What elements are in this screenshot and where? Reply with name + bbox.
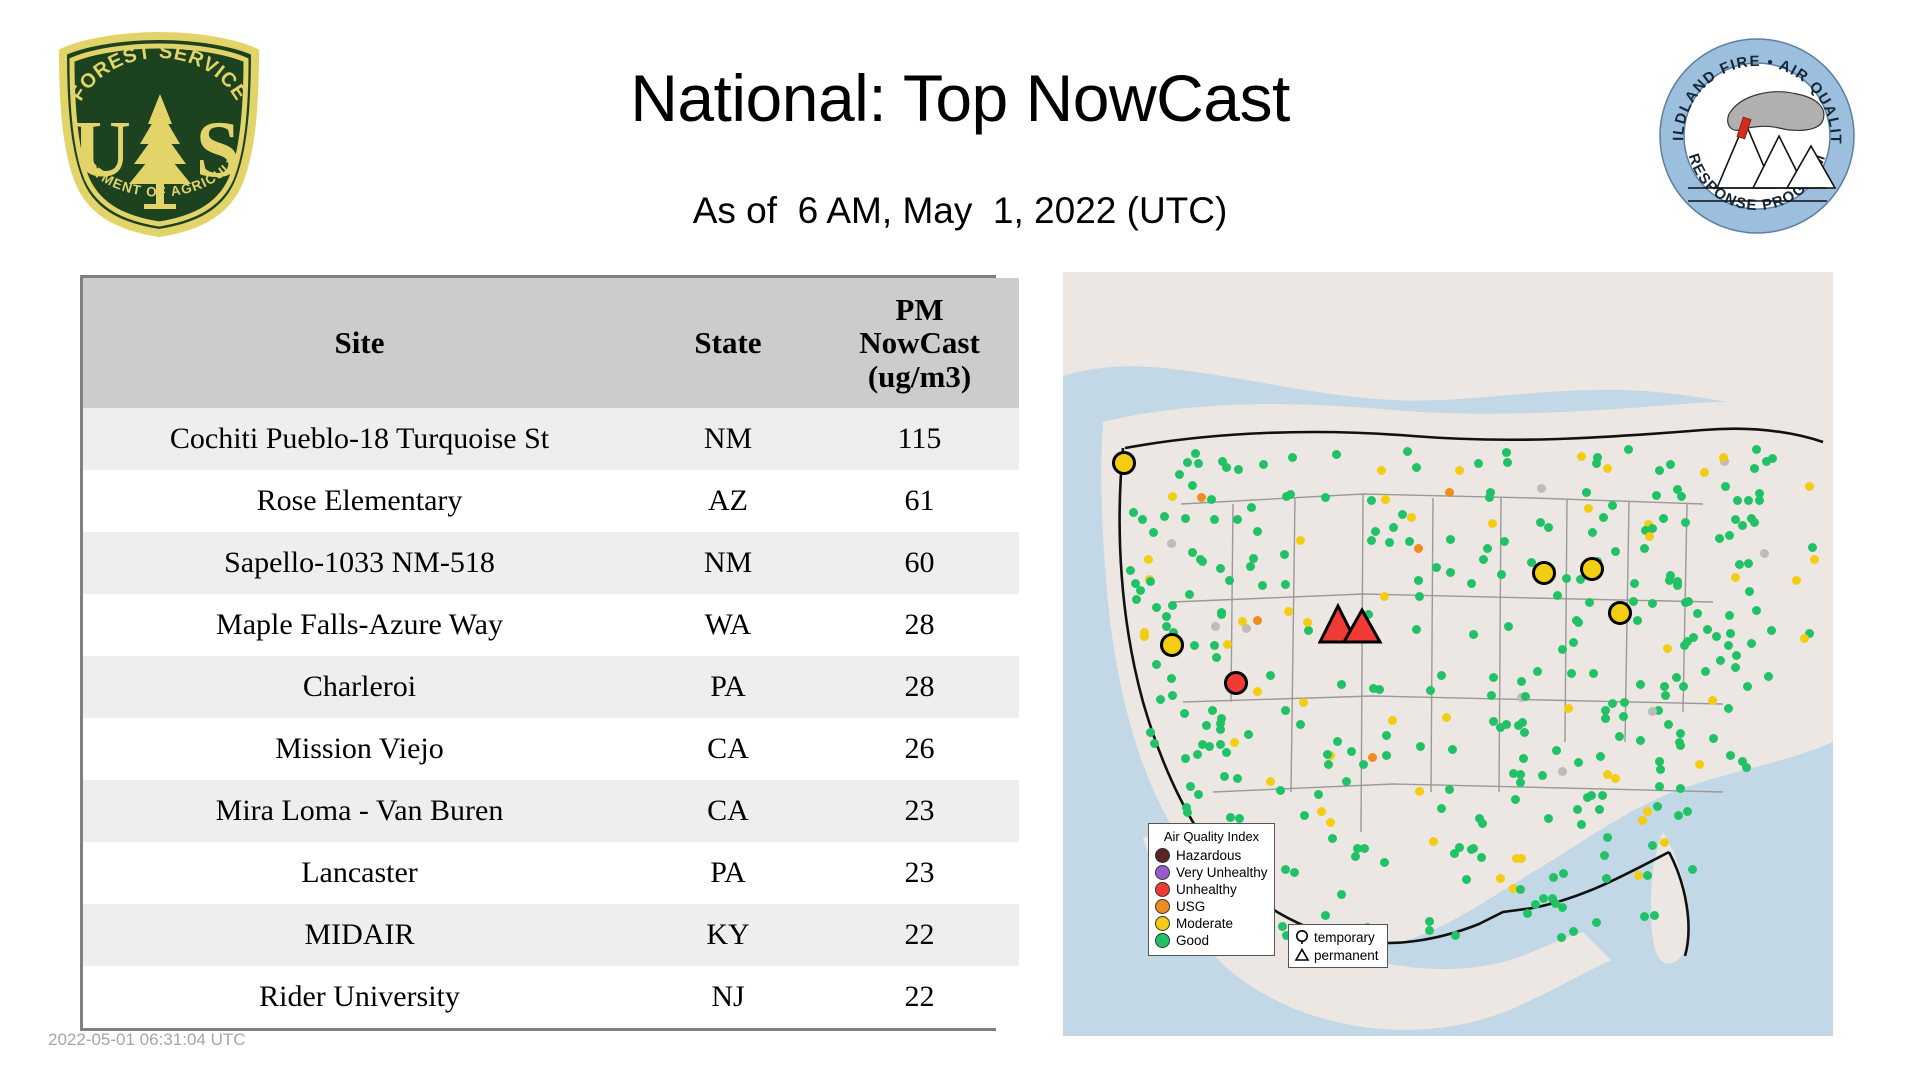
- aqi-monitor-dot[interactable]: [1805, 482, 1814, 491]
- aqi-monitor-dot[interactable]: [1693, 609, 1702, 618]
- symbol-legend-row-temporary: temporary: [1294, 928, 1382, 946]
- aqi-monitor-dot[interactable]: [1477, 853, 1486, 862]
- aqi-monitor-dot[interactable]: [1367, 496, 1376, 505]
- aqi-monitor-dot[interactable]: [1210, 641, 1219, 650]
- aqi-monitor-dot[interactable]: [1633, 616, 1642, 625]
- usfs-letter-u: U: [73, 106, 131, 194]
- aqi-monitor-dot[interactable]: [1359, 760, 1368, 769]
- aqi-monitor-dot[interactable]: [1469, 844, 1478, 853]
- aqi-monitor-dot[interactable]: [1489, 673, 1498, 682]
- aqi-monitor-dot[interactable]: [1412, 463, 1421, 472]
- aqi-monitor-dot[interactable]: [1574, 618, 1583, 627]
- aqi-monitor-dot[interactable]: [1212, 653, 1221, 662]
- aqi-monitor-dot[interactable]: [1282, 492, 1291, 501]
- aqi-monitor-dot[interactable]: [1502, 720, 1511, 729]
- generation-timestamp: 2022-05-01 06:31:04 UTC: [48, 1030, 246, 1050]
- aqi-monitor-dot[interactable]: [1681, 518, 1690, 527]
- aqi-monitor-dot[interactable]: [1725, 611, 1734, 620]
- aqi-monitor-dot[interactable]: [1655, 757, 1664, 766]
- aqi-monitor-dot[interactable]: [1603, 833, 1612, 842]
- aqi-monitor-dot[interactable]: [1415, 592, 1424, 601]
- aqi-monitor-dot[interactable]: [1599, 513, 1608, 522]
- pm-header-line2: NowCast: [824, 326, 1015, 359]
- table-header-row: Site State PM NowCast (ug/m3): [83, 278, 1019, 408]
- site-cell: Sapello-1033 NM-518: [83, 532, 636, 594]
- aqi-legend-label: USG: [1176, 899, 1205, 914]
- aqi-monitor-dot[interactable]: [1731, 663, 1740, 672]
- pm-value-cell: 26: [820, 718, 1019, 780]
- aqi-monitor-dot[interactable]: [1483, 544, 1492, 553]
- aqi-legend-row: Hazardous: [1155, 847, 1268, 864]
- aqi-monitor-dot[interactable]: [1416, 742, 1425, 751]
- symbol-legend-row-permanent: permanent: [1294, 946, 1382, 964]
- aqi-monitor-dot[interactable]: [1800, 634, 1809, 643]
- aqi-monitor-dot[interactable]: [1516, 885, 1525, 894]
- aqi-monitor-dot[interactable]: [1552, 746, 1561, 755]
- aqi-monitor-dot[interactable]: [1281, 580, 1290, 589]
- aqi-monitor-dot[interactable]: [1708, 696, 1717, 705]
- aqi-monitor-dot[interactable]: [1630, 579, 1639, 588]
- site-cell: MIDAIR: [83, 904, 636, 966]
- aqi-monitor-dot[interactable]: [1385, 538, 1394, 547]
- aqi-monitor-dot[interactable]: [1332, 450, 1341, 459]
- pm-value-cell: 23: [820, 780, 1019, 842]
- aqi-monitor-dot[interactable]: [1695, 760, 1704, 769]
- usfs-letter-s: S: [196, 106, 241, 194]
- site-cell: Charleroi: [83, 656, 636, 718]
- aqi-monitor-dot[interactable]: [1721, 482, 1730, 491]
- top-site-marker[interactable]: [1580, 557, 1604, 581]
- aqi-monitor-dot[interactable]: [1156, 695, 1165, 704]
- site-cell: Maple Falls-Azure Way: [83, 594, 636, 656]
- aqi-legend-label: Good: [1176, 933, 1209, 948]
- state-cell: CA: [636, 718, 820, 780]
- aqi-legend-swatch: [1155, 899, 1170, 914]
- aqi-monitor-dot[interactable]: [1537, 484, 1546, 493]
- state-cell: KY: [636, 904, 820, 966]
- pm-value-cell: 115: [820, 408, 1019, 470]
- aqi-monitor-dot[interactable]: [1583, 793, 1592, 802]
- aqi-monitor-dot[interactable]: [1487, 691, 1496, 700]
- aqi-monitor-dot[interactable]: [1288, 453, 1297, 462]
- aqi-monitor-dot[interactable]: [1303, 618, 1312, 627]
- aqi-monitor-dot[interactable]: [1725, 531, 1734, 540]
- symbol-legend: temporary permanent: [1288, 924, 1388, 968]
- aqi-monitor-dot[interactable]: [1185, 590, 1194, 599]
- aqi-monitor-dot[interactable]: [1167, 674, 1176, 683]
- site-cell: Rose Elementary: [83, 470, 636, 532]
- aqi-monitor-dot[interactable]: [1497, 570, 1506, 579]
- aqi-monitor-dot[interactable]: [1533, 667, 1542, 676]
- aqi-monitor-dot[interactable]: [1750, 464, 1759, 473]
- aqi-monitor-dot[interactable]: [1709, 734, 1718, 743]
- aqi-monitor-dot[interactable]: [1246, 562, 1255, 571]
- aqi-monitor-dot[interactable]: [1281, 865, 1290, 874]
- aqi-monitor-dot[interactable]: [1407, 513, 1416, 522]
- aqi-monitor-dot[interactable]: [1149, 528, 1158, 537]
- aqi-monitor-dot[interactable]: [1191, 449, 1200, 458]
- aqi-monitor-dot[interactable]: [1735, 560, 1744, 569]
- aqi-monitor-dot[interactable]: [1636, 736, 1645, 745]
- aqi-monitor-dot[interactable]: [1146, 577, 1155, 586]
- aqi-monitor-dot[interactable]: [1238, 617, 1247, 626]
- aqi-monitor-dot[interactable]: [1747, 639, 1756, 648]
- aqi-monitor-dot[interactable]: [1620, 698, 1629, 707]
- aqi-monitor-dot[interactable]: [1425, 926, 1434, 935]
- aqi-monitor-dot[interactable]: [1744, 496, 1753, 505]
- page-title: National: Top NowCast: [360, 60, 1560, 136]
- aqi-monitor-dot[interactable]: [1577, 820, 1586, 829]
- aqi-monitor-dot[interactable]: [1611, 774, 1620, 783]
- aqi-monitor-dot[interactable]: [1559, 869, 1568, 878]
- aqi-legend: Air Quality Index HazardousVery Unhealth…: [1148, 823, 1275, 956]
- aqi-legend-swatch: [1155, 865, 1170, 880]
- aqi-monitor-dot[interactable]: [1351, 852, 1360, 861]
- top-nowcast-table: Site State PM NowCast (ug/m3) Cochiti Pu…: [83, 278, 1019, 1028]
- aqi-monitor-dot[interactable]: [1259, 460, 1268, 469]
- aqi-monitor-dot[interactable]: [1266, 777, 1275, 786]
- top-site-marker[interactable]: [1112, 451, 1136, 475]
- aqi-monitor-dot[interactable]: [1280, 550, 1289, 559]
- aqi-monitor-dot[interactable]: [1624, 445, 1633, 454]
- top-nowcast-table-container: Site State PM NowCast (ug/m3) Cochiti Pu…: [80, 275, 996, 1031]
- aqi-monitor-dot[interactable]: [1745, 587, 1754, 596]
- aqi-monitor-dot[interactable]: [1445, 785, 1454, 794]
- aqi-monitor-dot[interactable]: [1321, 911, 1330, 920]
- aqi-monitor-dot[interactable]: [1347, 747, 1356, 756]
- aqi-monitor-dot[interactable]: [1446, 535, 1455, 544]
- aqi-monitor-dot[interactable]: [1167, 539, 1176, 548]
- aqi-monitor-dot[interactable]: [1747, 514, 1756, 523]
- aqi-monitor-dot[interactable]: [1719, 453, 1728, 462]
- column-header-pm-nowcast[interactable]: PM NowCast (ug/m3): [820, 278, 1019, 408]
- aqi-monitor-dot[interactable]: [1168, 601, 1177, 610]
- column-header-site[interactable]: Site: [83, 278, 636, 408]
- pm-value-cell: 60: [820, 532, 1019, 594]
- aqi-monitor-dot[interactable]: [1138, 515, 1147, 524]
- aqi-monitor-dot[interactable]: [1258, 581, 1267, 590]
- aqi-monitor-dot[interactable]: [1558, 767, 1567, 776]
- aqi-monitor-dot[interactable]: [1405, 537, 1414, 546]
- aqi-monitor-dot[interactable]: [1726, 751, 1735, 760]
- aqi-monitor-dot[interactable]: [1732, 651, 1741, 660]
- aqi-monitor-dot[interactable]: [1196, 555, 1205, 564]
- aqi-legend-swatch: [1155, 916, 1170, 931]
- us-air-quality-map[interactable]: Air Quality Index HazardousVery Unhealth…: [1063, 272, 1833, 1036]
- aqi-monitor-dot[interactable]: [1712, 632, 1721, 641]
- aqi-monitor-dot[interactable]: [1643, 807, 1652, 816]
- aqi-monitor-dot[interactable]: [1467, 579, 1476, 588]
- page-subtitle: As of 6 AM, May 1, 2022 (UTC): [360, 190, 1560, 232]
- aqi-monitor-dot[interactable]: [1810, 555, 1819, 564]
- aqi-monitor-dot[interactable]: [1382, 731, 1391, 740]
- aqi-monitor-dot[interactable]: [1296, 536, 1305, 545]
- triangle-outline-icon: [1294, 947, 1310, 963]
- aqi-monitor-dot[interactable]: [1429, 837, 1438, 846]
- aqi-monitor-dot[interactable]: [1738, 521, 1747, 530]
- state-cell: PA: [636, 656, 820, 718]
- state-cell: PA: [636, 842, 820, 904]
- aqi-monitor-dot[interactable]: [1194, 459, 1203, 468]
- aqi-legend-title: Air Quality Index: [1155, 829, 1268, 844]
- aqi-monitor-dot[interactable]: [1150, 739, 1159, 748]
- table-row[interactable]: Rose ElementaryAZ61: [83, 470, 1019, 532]
- aqi-legend-label: Hazardous: [1176, 848, 1241, 863]
- us-forest-service-shield-logo: FOREST SERVICE DEPARTMENT OF AGRICULTURE…: [52, 32, 267, 237]
- aqi-monitor-dot[interactable]: [1672, 673, 1681, 682]
- symbol-legend-label-temporary: temporary: [1314, 930, 1375, 945]
- aqi-monitor-dot[interactable]: [1217, 610, 1226, 619]
- aqi-monitor-dot[interactable]: [1415, 787, 1424, 796]
- pm-value-cell: 28: [820, 656, 1019, 718]
- aqi-monitor-dot[interactable]: [1290, 868, 1299, 877]
- aqi-monitor-dot[interactable]: [1216, 564, 1225, 573]
- aqi-legend-row: Very Unhealthy: [1155, 864, 1268, 881]
- aqi-monitor-dot[interactable]: [1701, 667, 1710, 676]
- aqi-monitor-dot[interactable]: [1190, 641, 1199, 650]
- aqi-monitor-dot[interactable]: [1225, 576, 1234, 585]
- aqi-monitor-dot[interactable]: [1760, 549, 1769, 558]
- aqi-legend-label: Moderate: [1176, 916, 1233, 931]
- pm-value-cell: 22: [820, 904, 1019, 966]
- circle-outline-icon: [1294, 929, 1310, 945]
- aqi-monitor-dot[interactable]: [1321, 493, 1330, 502]
- aqi-monitor-dot[interactable]: [1531, 900, 1540, 909]
- aqi-legend-row: Moderate: [1155, 915, 1268, 932]
- aqi-monitor-dot[interactable]: [1208, 706, 1217, 715]
- aqi-monitor-dot[interactable]: [1679, 682, 1688, 691]
- aqi-monitor-dot[interactable]: [1371, 527, 1380, 536]
- aqi-monitor-dot[interactable]: [1640, 912, 1649, 921]
- aqi-monitor-dot[interactable]: [1558, 645, 1567, 654]
- aqi-monitor-dot[interactable]: [1284, 607, 1293, 616]
- aqi-monitor-dot[interactable]: [1342, 777, 1351, 786]
- pm-value-cell: 61: [820, 470, 1019, 532]
- aqi-monitor-dot[interactable]: [1603, 464, 1612, 473]
- table-row[interactable]: Rider UniversityNJ22: [83, 966, 1019, 1028]
- aqi-monitor-dot[interactable]: [1676, 784, 1685, 793]
- top-site-marker[interactable]: [1532, 561, 1556, 585]
- aqi-legend-row: Unhealthy: [1155, 881, 1268, 898]
- table-row[interactable]: Maple Falls-Azure WayWA28: [83, 594, 1019, 656]
- state-cell: NM: [636, 408, 820, 470]
- aqi-monitor-dot[interactable]: [1223, 640, 1232, 649]
- top-site-marker[interactable]: [1224, 671, 1248, 695]
- aqi-monitor-dot[interactable]: [1478, 819, 1487, 828]
- aqi-monitor-dot[interactable]: [1486, 488, 1495, 497]
- aqi-monitor-dot[interactable]: [1512, 854, 1521, 863]
- aqi-monitor-dot[interactable]: [1425, 917, 1434, 926]
- top-site-marker[interactable]: [1160, 633, 1184, 657]
- aqi-monitor-dot[interactable]: [1557, 933, 1566, 942]
- aqi-legend-swatch: [1155, 933, 1170, 948]
- aqi-monitor-dot[interactable]: [1197, 493, 1206, 502]
- aqi-monitor-dot[interactable]: [1767, 626, 1776, 635]
- aqi-legend-row: USG: [1155, 898, 1268, 915]
- aqi-monitor-dot[interactable]: [1660, 682, 1669, 691]
- aqi-monitor-dot[interactable]: [1589, 669, 1598, 678]
- aqi-monitor-dot[interactable]: [1500, 537, 1509, 546]
- table-row[interactable]: Mira Loma - Van BurenCA23: [83, 780, 1019, 842]
- aqi-monitor-dot[interactable]: [1132, 595, 1141, 604]
- top-site-marker[interactable]: [1608, 601, 1632, 625]
- pm-header-line1: PM: [824, 293, 1015, 326]
- aqi-monitor-dot[interactable]: [1743, 682, 1752, 691]
- aqi-monitor-dot[interactable]: [1650, 911, 1659, 920]
- aqi-monitor-dot[interactable]: [1276, 786, 1285, 795]
- table-body: Cochiti Pueblo-18 Turquoise StNM115Rose …: [83, 408, 1019, 1028]
- aqi-monitor-dot[interactable]: [1437, 671, 1446, 680]
- aqi-monitor-dot[interactable]: [1182, 803, 1191, 812]
- aqi-monitor-dot[interactable]: [1659, 514, 1668, 523]
- aqi-monitor-dot[interactable]: [1216, 719, 1225, 728]
- aqi-legend-swatch: [1155, 882, 1170, 897]
- aqi-monitor-dot[interactable]: [1152, 660, 1161, 669]
- site-cell: Cochiti Pueblo-18 Turquoise St: [83, 408, 636, 470]
- aqi-monitor-dot[interactable]: [1648, 707, 1657, 716]
- aqi-monitor-dot[interactable]: [1504, 622, 1513, 631]
- site-cell: Mission Viejo: [83, 718, 636, 780]
- aqi-legend-row: Good: [1155, 932, 1268, 949]
- aqi-monitor-dot[interactable]: [1381, 495, 1390, 504]
- aqi-monitor-dot[interactable]: [1731, 573, 1740, 582]
- aqi-monitor-dot[interactable]: [1615, 732, 1624, 741]
- aqi-legend-label: Unhealthy: [1176, 882, 1237, 897]
- aqi-monitor-dot[interactable]: [1675, 738, 1684, 747]
- aqi-monitor-dot[interactable]: [1247, 503, 1256, 512]
- table-row[interactable]: Mission ViejoCA26: [83, 718, 1019, 780]
- aqi-monitor-dot[interactable]: [1442, 713, 1451, 722]
- aqi-monitor-dot[interactable]: [1317, 807, 1326, 816]
- aqi-monitor-dot[interactable]: [1414, 576, 1423, 585]
- aqi-monitor-dot[interactable]: [1489, 717, 1498, 726]
- aqi-monitor-dot[interactable]: [1573, 805, 1582, 814]
- pm-value-cell: 23: [820, 842, 1019, 904]
- aqi-monitor-dot[interactable]: [1129, 508, 1138, 517]
- aqi-monitor-dot[interactable]: [1752, 606, 1761, 615]
- aqi-monitor-dot[interactable]: [1602, 874, 1611, 883]
- aqi-monitor-dot[interactable]: [1233, 774, 1242, 783]
- aqi-monitor-dot[interactable]: [1733, 496, 1742, 505]
- aqi-legend-swatch: [1155, 848, 1170, 863]
- site-cell: Rider University: [83, 966, 636, 1028]
- aqi-monitor-dot[interactable]: [1175, 470, 1184, 479]
- state-cell: WA: [636, 594, 820, 656]
- aqi-monitor-dot[interactable]: [1724, 641, 1733, 650]
- aqi-monitor-dot[interactable]: [1676, 729, 1685, 738]
- aqi-monitor-dot[interactable]: [1226, 813, 1235, 822]
- table-row[interactable]: LancasterPA23: [83, 842, 1019, 904]
- aqi-monitor-dot[interactable]: [1188, 548, 1197, 557]
- aqi-monitor-dot[interactable]: [1304, 626, 1313, 635]
- aqi-monitor-dot[interactable]: [1398, 510, 1407, 519]
- table-header: Site State PM NowCast (ug/m3): [83, 278, 1019, 408]
- aqi-monitor-dot[interactable]: [1333, 737, 1342, 746]
- aqi-monitor-dot[interactable]: [1469, 630, 1478, 639]
- aqi-monitor-dot[interactable]: [1655, 466, 1664, 475]
- aqi-monitor-dot[interactable]: [1764, 672, 1773, 681]
- aqi-monitor-dot[interactable]: [1207, 495, 1216, 504]
- table-row[interactable]: Cochiti Pueblo-18 Turquoise StNM115: [83, 408, 1019, 470]
- aqi-monitor-dot[interactable]: [1683, 807, 1692, 816]
- aqi-monitor-dot[interactable]: [1222, 748, 1231, 757]
- aqi-monitor-dot[interactable]: [1168, 691, 1177, 700]
- aqi-monitor-dot[interactable]: [1140, 632, 1149, 641]
- aqi-monitor-dot[interactable]: [1544, 523, 1553, 532]
- aqi-monitor-dot[interactable]: [1462, 875, 1471, 884]
- aqi-monitor-dot[interactable]: [1233, 515, 1242, 524]
- aqi-monitor-dot[interactable]: [1549, 873, 1558, 882]
- state-cell: CA: [636, 780, 820, 842]
- wfaqrp-logo: WILDLAND FIRE • AIR QUALITY RESPONSE PRO…: [1655, 36, 1860, 236]
- state-cell: AZ: [636, 470, 820, 532]
- aqi-monitor-dot[interactable]: [1181, 754, 1190, 763]
- aqi-monitor-dot[interactable]: [1511, 795, 1520, 804]
- aqi-monitor-dot[interactable]: [1152, 603, 1161, 612]
- pm-value-cell: 22: [820, 966, 1019, 1028]
- table-row[interactable]: MIDAIRKY22: [83, 904, 1019, 966]
- aqi-monitor-dot[interactable]: [1488, 519, 1497, 528]
- state-cell: NM: [636, 532, 820, 594]
- aqi-monitor-dot[interactable]: [1168, 492, 1177, 501]
- pm-header-line3: (ug/m3): [824, 360, 1015, 393]
- table-row[interactable]: CharleroiPA28: [83, 656, 1019, 718]
- aqi-monitor-dot[interactable]: [1663, 644, 1672, 653]
- aqi-monitor-dot[interactable]: [1598, 791, 1607, 800]
- column-header-state[interactable]: State: [636, 278, 820, 408]
- table-row[interactable]: Sapello-1033 NM-518NM60: [83, 532, 1019, 594]
- aqi-monitor-dot[interactable]: [1403, 447, 1412, 456]
- aqi-legend-label: Very Unhealthy: [1176, 865, 1268, 880]
- pm-value-cell: 28: [820, 594, 1019, 656]
- aqi-monitor-dot[interactable]: [1194, 790, 1203, 799]
- aqi-monitor-dot[interactable]: [1188, 481, 1197, 490]
- aqi-monitor-dot[interactable]: [1684, 597, 1693, 606]
- site-cell: Lancaster: [83, 842, 636, 904]
- aqi-monitor-dot[interactable]: [1553, 591, 1562, 600]
- aqi-monitor-dot[interactable]: [1726, 629, 1735, 638]
- aqi-monitor-dot[interactable]: [1600, 851, 1609, 860]
- aqi-monitor-dot[interactable]: [1652, 491, 1661, 500]
- aqi-monitor-dot[interactable]: [1323, 750, 1332, 759]
- symbol-legend-label-permanent: permanent: [1314, 948, 1379, 963]
- aqi-monitor-dot[interactable]: [1703, 625, 1712, 634]
- state-cell: NJ: [636, 966, 820, 1028]
- site-cell: Mira Loma - Van Buren: [83, 780, 636, 842]
- aqi-monitor-dot[interactable]: [1186, 782, 1195, 791]
- aqi-monitor-dot[interactable]: [1220, 772, 1229, 781]
- aqi-monitor-dot[interactable]: [1640, 544, 1649, 553]
- aqi-monitor-dot[interactable]: [1235, 814, 1244, 823]
